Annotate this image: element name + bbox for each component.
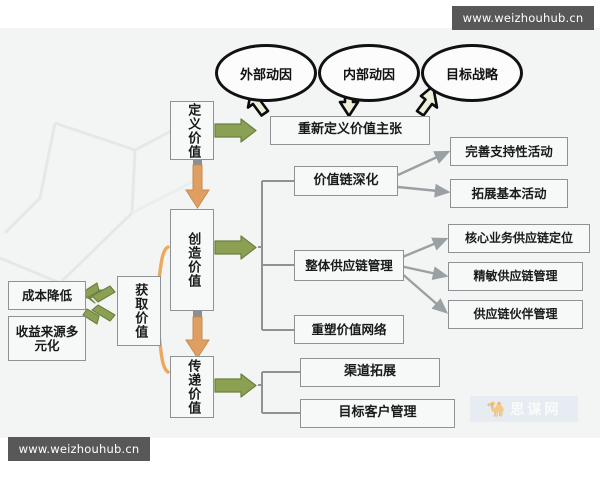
leaf-box-expand-primary-activities[interactable]: 拓展基本活动 <box>450 179 568 208</box>
outcome-label: 成本降低 <box>22 289 72 303</box>
leaf-label: 拓展基本活动 <box>471 187 546 201</box>
branch-box-redefine-value-proposition[interactable]: 重新定义价值主张 <box>270 116 430 145</box>
watermark-top-right: www.weizhouhub.cn <box>452 6 594 30</box>
branch-box-channel-expansion[interactable]: 渠道拓展 <box>300 358 440 387</box>
branch-label: 重塑价值网络 <box>311 323 386 337</box>
logo-text: 思谋网 <box>510 399 561 419</box>
leaf-label: 核心业务供应链定位 <box>465 232 573 245</box>
leaf-box-supply-chain-partner-management[interactable]: 供应链伙伴管理 <box>448 300 583 329</box>
outcome-box-cost-reduction[interactable]: 成本降低 <box>8 281 86 310</box>
site-logo-watermark: 🐪 思谋网 <box>470 396 578 422</box>
driver-ellipse-strategy[interactable]: 目标战略 <box>421 44 523 102</box>
stage-box-deliver[interactable]: 传递价值 <box>170 356 214 418</box>
stage-label: 创造价值 <box>185 232 200 288</box>
branch-label: 目标客户管理 <box>338 406 416 421</box>
watermark-text: www.weizhouhub.cn <box>463 11 584 25</box>
outcome-box-revenue-diversification[interactable]: 收益来源多元化 <box>8 316 86 361</box>
camel-icon: 🐪 <box>487 402 506 417</box>
branch-box-value-chain-deepening[interactable]: 价值链深化 <box>294 166 398 196</box>
capture-value-box[interactable]: 获取价值 <box>117 276 161 346</box>
leaf-box-core-business-supply-chain-positioning[interactable]: 核心业务供应链定位 <box>448 224 590 253</box>
outcome-label: 收益来源多元化 <box>12 325 82 353</box>
leaf-box-improve-support-activities[interactable]: 完善支持性活动 <box>450 137 568 166</box>
driver-ellipse-internal[interactable]: 内部动因 <box>318 44 420 102</box>
driver-label: 外部动因 <box>240 64 292 83</box>
driver-label: 内部动因 <box>343 64 395 83</box>
branch-label: 渠道拓展 <box>344 365 396 380</box>
stage-box-define[interactable]: 定义价值 <box>170 101 214 160</box>
branch-label: 整体供应链管理 <box>305 259 393 273</box>
branch-box-integrated-supply-chain[interactable]: 整体供应链管理 <box>294 250 404 281</box>
leaf-label: 供应链伙伴管理 <box>473 308 557 321</box>
diagram-canvas: 外部动因 内部动因 目标战略 定义价值 创造价值 传递价值 获取价值 成本降低 … <box>0 0 600 480</box>
watermark-text: www.weizhouhub.cn <box>19 442 140 456</box>
leaf-box-agile-supply-chain-management[interactable]: 精敏供应链管理 <box>448 262 583 291</box>
branch-box-reshape-value-network[interactable]: 重塑价值网络 <box>294 315 404 344</box>
stage-label: 定义价值 <box>185 103 200 159</box>
stage-box-create[interactable]: 创造价值 <box>170 209 214 311</box>
branch-label: 重新定义价值主张 <box>298 123 402 138</box>
branch-label: 价值链深化 <box>313 174 378 189</box>
watermark-bottom-left: www.weizhouhub.cn <box>8 437 150 461</box>
capture-value-label: 获取价值 <box>132 283 147 339</box>
stage-label: 传递价值 <box>185 359 200 415</box>
leaf-label: 完善支持性活动 <box>465 145 553 159</box>
leaf-label: 精敏供应链管理 <box>473 270 557 283</box>
driver-label: 目标战略 <box>446 64 498 83</box>
branch-box-target-customer-management[interactable]: 目标客户管理 <box>300 399 455 428</box>
driver-ellipse-external[interactable]: 外部动因 <box>215 44 317 102</box>
